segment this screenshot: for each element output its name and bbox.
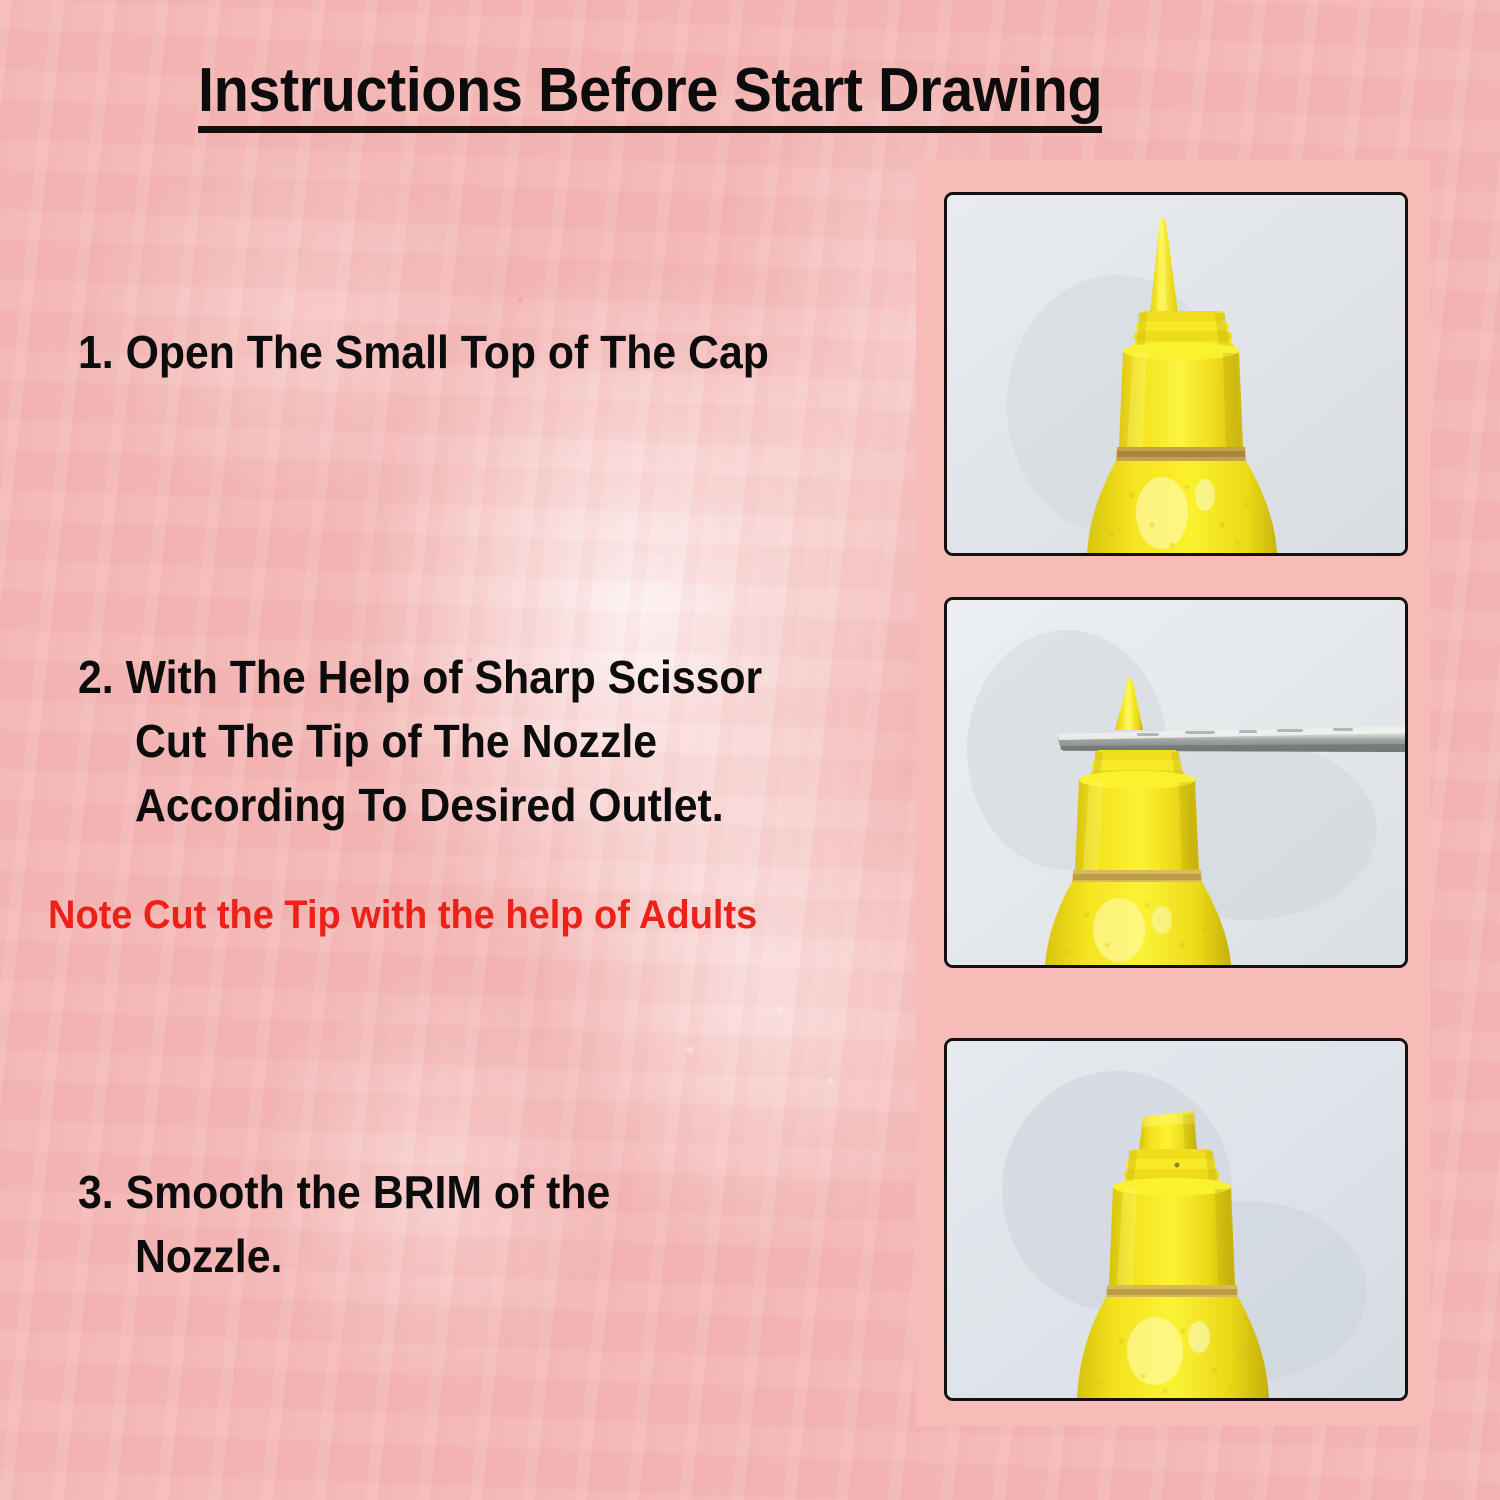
instruction-step-2: 2. With The Help of Sharp Scissor Cut Th… [78,645,814,837]
bottle-pointed-nozzle-illustration [947,195,1405,553]
instruction-poster: Instructions Before Start Drawing 1. Ope… [0,0,1500,1500]
cut-nozzle-illustration [947,1041,1405,1398]
photo-panel [916,160,1430,1426]
photo-bottle-with-pointed-nozzle [944,192,1408,556]
safety-note-text: Note Cut the Tip with the help of Adults [48,888,757,942]
step-1-line-1: 1. Open The Small Top of The Cap [78,320,769,384]
safety-note: Note Cut the Tip with the help of Adults [48,888,795,942]
step-2-line-3: According To Desired Outlet. [135,773,766,837]
scissor-cutting-illustration [947,600,1405,965]
instruction-step-3: 3. Smooth the BRIM of the Nozzle. [78,1160,650,1288]
step-3-line-1: 3. Smooth the BRIM of the [78,1160,610,1224]
photo-bottle-with-cut-nozzle [944,1038,1408,1401]
photo-scissor-cutting-nozzle [944,597,1408,968]
step-2-line-1: 2. With The Help of Sharp Scissor [78,645,762,709]
instruction-step-1: 1. Open The Small Top of The Cap [78,320,821,384]
step-3-line-2: Nozzle. [135,1224,614,1288]
instruction-steps-column: 1. Open The Small Top of The Cap 2. With… [0,0,916,1500]
step-2-line-2: Cut The Tip of The Nozzle [135,709,766,773]
